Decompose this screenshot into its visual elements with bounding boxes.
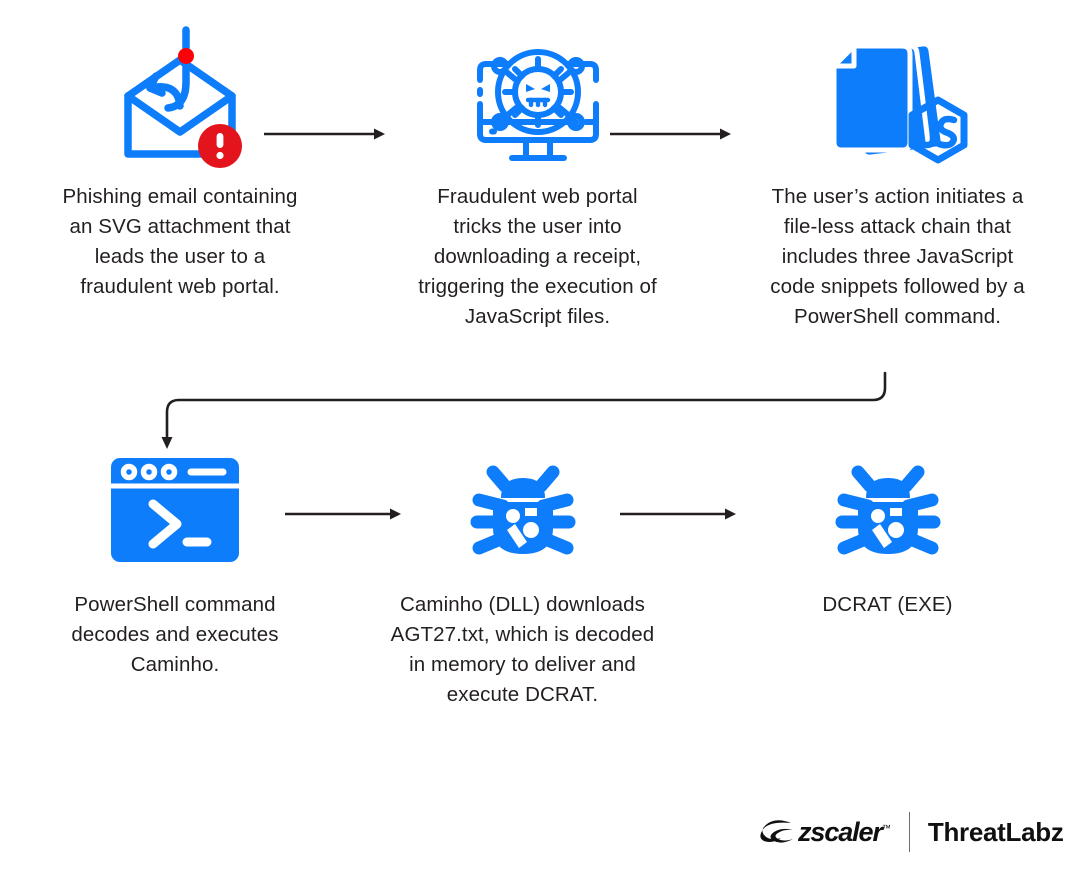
infected-web-portal-monitor-icon [464, 30, 612, 170]
zscaler-wordmark: zscaler™ [798, 817, 891, 848]
connector-arrow-step5-step6 [618, 500, 743, 535]
hook-bead-icon [178, 48, 194, 64]
step-2-caption: Fraudulent web portal tricks the user in… [388, 182, 688, 332]
footer-branding: zscaler™ ThreatLabz [760, 812, 1064, 852]
zscaler-logo: zscaler™ [760, 817, 891, 848]
malware-bug-icon [463, 456, 583, 564]
threatlabz-wordmark: ThreatLabz [928, 817, 1064, 848]
flow-step-3: The user’s action initiates a file-less … [715, 30, 1080, 332]
step-6-caption: DCRAT (EXE) [738, 590, 1038, 620]
flow-row-bottom: PowerShell command decodes and executes … [0, 450, 1080, 710]
zscaler-swirl-icon [760, 817, 796, 847]
step-1-icon-wrap [110, 30, 250, 170]
javascript-files-stack-icon [818, 32, 978, 168]
flow-step-1: Phishing email containing an SVG attachm… [0, 30, 360, 302]
footer-divider [909, 812, 910, 852]
step-4-caption: PowerShell command decodes and executes … [25, 590, 325, 680]
powershell-terminal-icon [109, 456, 241, 564]
step-1-caption: Phishing email containing an SVG attachm… [30, 182, 330, 302]
trademark-symbol: ™ [882, 823, 891, 833]
step-3-caption: The user’s action initiates a file-less … [743, 182, 1053, 332]
phishing-email-hook-icon [110, 20, 250, 180]
flow-step-4: PowerShell command decodes and executes … [0, 450, 350, 680]
step-2-icon-wrap [464, 30, 612, 170]
flow-step-6: DCRAT (EXE) [695, 450, 1080, 620]
connector-arrow-step1-step2 [262, 120, 392, 155]
malware-bug-icon [828, 456, 948, 564]
step-3-icon-wrap [818, 30, 978, 170]
connector-arrow-step4-step5 [283, 500, 408, 535]
connector-wrap-step3-step4 [140, 365, 910, 470]
connector-arrow-step2-step3 [608, 120, 738, 155]
flow-row-top: Phishing email containing an SVG attachm… [0, 30, 1080, 332]
infographic-canvas: Phishing email containing an SVG attachm… [0, 0, 1080, 889]
file-sheet-front [834, 46, 910, 150]
flow-step-5: Caminho (DLL) downloads AGT27.txt, which… [350, 450, 695, 710]
flow-step-2: Fraudulent web portal tricks the user in… [360, 30, 715, 332]
step-5-caption: Caminho (DLL) downloads AGT27.txt, which… [368, 590, 678, 710]
